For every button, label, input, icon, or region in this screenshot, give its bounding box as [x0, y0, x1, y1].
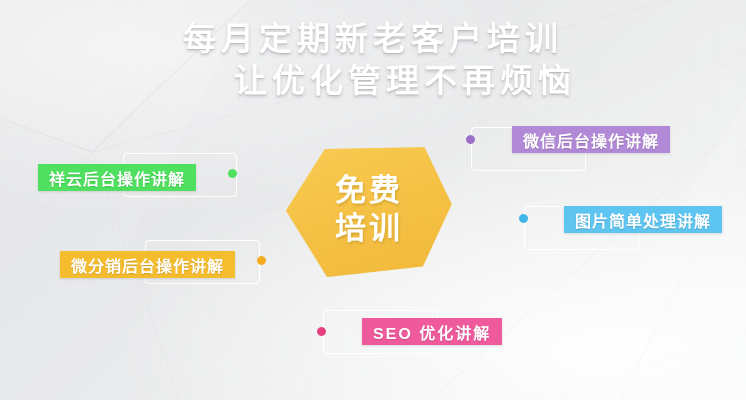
node-tupian-label[interactable]: 图片简单处理讲解 [564, 206, 722, 233]
node-seo-dot [317, 327, 326, 336]
hexagon-line-2: 培训 [335, 210, 403, 248]
node-seo-label[interactable]: SEO 优化讲解 [362, 318, 502, 345]
node-weifenxiao-dot [257, 256, 266, 265]
node-xiangyun-label[interactable]: 祥云后台操作讲解 [38, 164, 196, 191]
free-training-hexagon[interactable]: 免费 培训 [282, 140, 457, 279]
node-tupian-dot [519, 214, 528, 223]
node-weixin-dot [466, 135, 475, 144]
title-line-1: 每月定期新老客户培训 [0, 18, 746, 60]
title-line-2: 让优化管理不再烦恼 [0, 60, 746, 102]
node-weifenxiao-label[interactable]: 微分销后台操作讲解 [60, 251, 235, 278]
poster-canvas: 每月定期新老客户培训 让优化管理不再烦恼 祥云后台操作讲解 微分销后台操作讲解 … [0, 0, 746, 400]
node-xiangyun-dot [228, 169, 237, 178]
node-weixin-label[interactable]: 微信后台操作讲解 [512, 126, 670, 153]
hexagon-text: 免费 培训 [286, 146, 452, 274]
page-title: 每月定期新老客户培训 让优化管理不再烦恼 [0, 18, 746, 102]
hexagon-line-1: 免费 [335, 172, 403, 210]
